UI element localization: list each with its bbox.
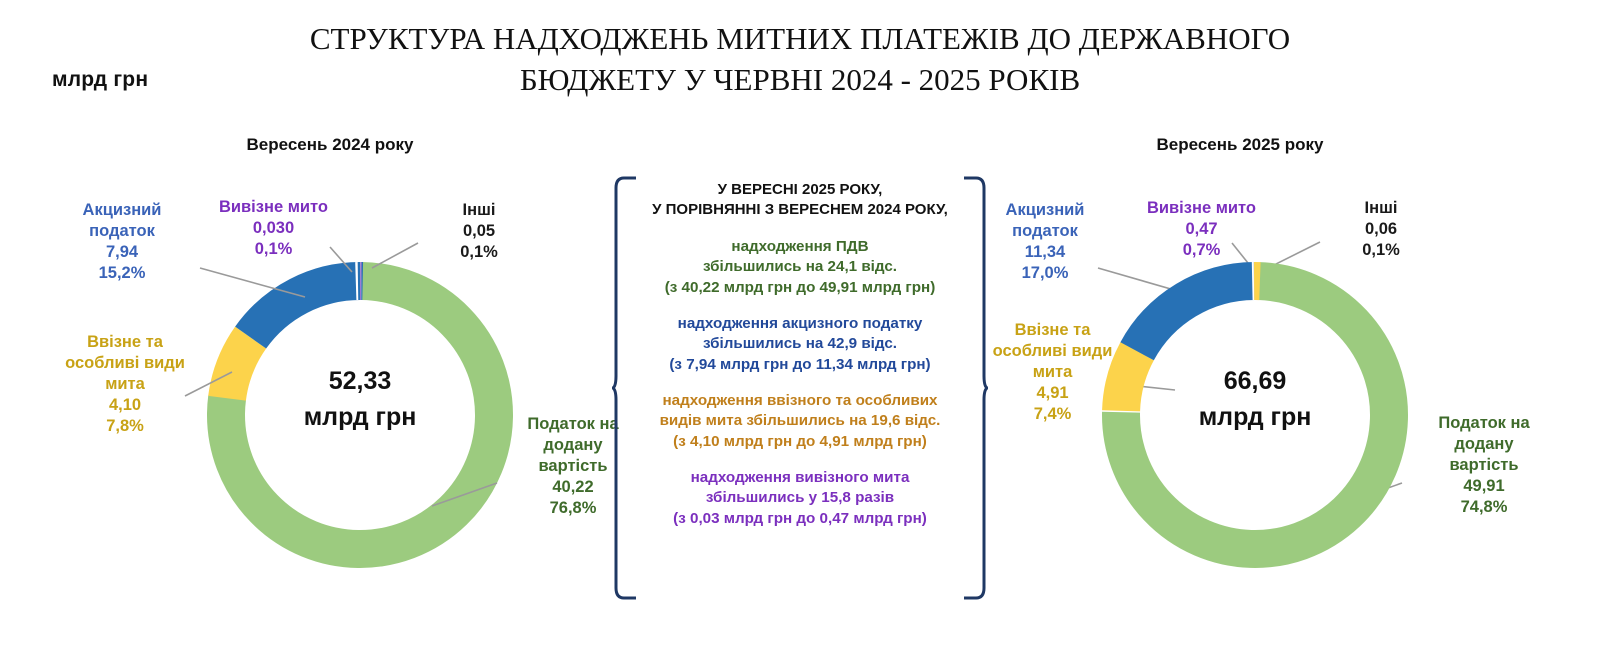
- left-callout-import-duty: Ввізне та особливі види мита 4,10 7,8%: [50, 332, 200, 438]
- right-callout-vat-line2: додану: [1404, 434, 1564, 455]
- comparison-paragraph-vat: надходження ПДВ збільшились на 24,1 відс…: [638, 237, 962, 299]
- comparison-excise-line2: збільшились на 42,9 відс.: [638, 334, 962, 355]
- left-callout-export-line1: Вивізне мито: [196, 197, 351, 218]
- left-callout-other-line1: Інші: [420, 200, 538, 221]
- comparison-heading: У ВЕРЕСНІ 2025 РОКУ, У ПОРІВНЯННІ З ВЕРЕ…: [638, 180, 962, 221]
- right-callout-import-line3: мита: [975, 362, 1130, 383]
- right-callout-import-value: 4,91: [975, 383, 1130, 404]
- right-callout-export-value: 0,47: [1124, 219, 1279, 240]
- left-callout-excise-line2: податок: [42, 221, 202, 242]
- comparison-heading-line2: У ПОРІВНЯННІ З ВЕРЕСНЕМ 2024 РОКУ,: [638, 200, 962, 220]
- right-callout-other-line1: Інші: [1322, 198, 1440, 219]
- left-callout-other: Інші 0,05 0,1%: [420, 200, 538, 263]
- comparison-paragraph-import-duty: надходження ввізного та особливих видів …: [638, 391, 962, 453]
- left-donut-svg: [190, 245, 530, 585]
- left-callout-excise: Акцизний податок 7,94 15,2%: [42, 200, 202, 284]
- right-brace-icon: [962, 176, 988, 600]
- right-callout-excise-line2: податок: [965, 221, 1125, 242]
- right-callout-vat-pct: 74,8%: [1404, 497, 1564, 518]
- left-chart-title: Вересень 2024 року: [150, 135, 510, 155]
- right-callout-other-value: 0,06: [1322, 219, 1440, 240]
- left-callout-import-pct: 7,8%: [50, 416, 200, 437]
- left-callout-export-value: 0,030: [196, 218, 351, 239]
- left-callout-other-pct: 0,1%: [420, 242, 538, 263]
- comparison-paragraph-export-duty: надходження вивізного мита збільшились у…: [638, 468, 962, 530]
- comparison-excise-line1: надходження акцизного податку: [638, 314, 962, 335]
- right-callout-export-duty: Вивізне мито 0,47 0,7%: [1124, 198, 1279, 261]
- comparison-import-line3: (з 4,10 млрд грн до 4,91 млрд грн): [638, 432, 962, 453]
- right-callout-export-line1: Вивізне мито: [1124, 198, 1279, 219]
- left-callout-import-line2: особливі види: [50, 353, 200, 374]
- comparison-excise-line3: (з 7,94 млрд грн до 11,34 млрд грн): [638, 355, 962, 376]
- comparison-import-line1: надходження ввізного та особливих: [638, 391, 962, 412]
- right-callout-import-line1: Ввізне та: [975, 320, 1130, 341]
- comparison-paragraph-excise: надходження акцизного податку збільшилис…: [638, 314, 962, 376]
- right-callout-import-duty: Ввізне та особливі види мита 4,91 7,4%: [975, 320, 1130, 426]
- left-donut-chart: 52,33 млрд грн: [190, 245, 530, 585]
- left-callout-excise-pct: 15,2%: [42, 263, 202, 284]
- comparison-import-line2: видів мита збільшились на 19,6 відс.: [638, 411, 962, 432]
- unit-label: млрд грн: [52, 68, 148, 92]
- left-brace-icon: [612, 176, 638, 600]
- right-chart-title: Вересень 2025 року: [1060, 135, 1420, 155]
- comparison-export-line2: збільшились у 15,8 разів: [638, 488, 962, 509]
- right-callout-vat: Податок на додану вартість 49,91 74,8%: [1404, 413, 1564, 519]
- right-callout-other: Інші 0,06 0,1%: [1322, 198, 1440, 261]
- right-callout-excise-pct: 17,0%: [965, 263, 1125, 284]
- comparison-export-line3: (з 0,03 млрд грн до 0,47 млрд грн): [638, 509, 962, 530]
- left-callout-import-line1: Ввізне та: [50, 332, 200, 353]
- right-callout-vat-line1: Податок на: [1404, 413, 1564, 434]
- page-title: СТРУКТУРА НАДХОДЖЕНЬ МИТНИХ ПЛАТЕЖІВ ДО …: [230, 18, 1370, 100]
- right-callout-export-pct: 0,7%: [1124, 240, 1279, 261]
- left-callout-import-line3: мита: [50, 374, 200, 395]
- left-callout-import-value: 4,10: [50, 395, 200, 416]
- right-callout-import-line2: особливі види: [975, 341, 1130, 362]
- comparison-content: У ВЕРЕСНІ 2025 РОКУ, У ПОРІВНЯННІ З ВЕРЕ…: [638, 180, 962, 545]
- right-callout-other-pct: 0,1%: [1322, 240, 1440, 261]
- right-callout-vat-value: 49,91: [1404, 476, 1564, 497]
- comparison-panel: У ВЕРЕСНІ 2025 РОКУ, У ПОРІВНЯННІ З ВЕРЕ…: [612, 176, 988, 600]
- comparison-heading-line1: У ВЕРЕСНІ 2025 РОКУ,: [638, 180, 962, 200]
- comparison-export-line1: надходження вивізного мита: [638, 468, 962, 489]
- left-callout-other-value: 0,05: [420, 221, 538, 242]
- left-callout-excise-line1: Акцизний: [42, 200, 202, 221]
- comparison-vat-line2: збільшились на 24,1 відс.: [638, 257, 962, 278]
- right-callout-import-pct: 7,4%: [975, 404, 1130, 425]
- comparison-vat-line3: (з 40,22 млрд грн до 49,91 млрд грн): [638, 278, 962, 299]
- right-donut-chart: 66,69 млрд грн: [1085, 245, 1425, 585]
- page-title-line-2: БЮДЖЕТУ У ЧЕРВНІ 2024 - 2025 РОКІВ: [230, 59, 1370, 100]
- comparison-vat-line1: надходження ПДВ: [638, 237, 962, 258]
- left-callout-export-duty: Вивізне мито 0,030 0,1%: [196, 197, 351, 260]
- page-title-line-1: СТРУКТУРА НАДХОДЖЕНЬ МИТНИХ ПЛАТЕЖІВ ДО …: [230, 18, 1370, 59]
- left-callout-export-pct: 0,1%: [196, 239, 351, 260]
- right-callout-vat-line3: вартість: [1404, 455, 1564, 476]
- right-callout-excise: Акцизний податок 11,34 17,0%: [965, 200, 1125, 284]
- right-donut-svg: [1085, 245, 1425, 585]
- right-callout-excise-value: 11,34: [965, 242, 1125, 263]
- left-callout-excise-value: 7,94: [42, 242, 202, 263]
- right-callout-excise-line1: Акцизний: [965, 200, 1125, 221]
